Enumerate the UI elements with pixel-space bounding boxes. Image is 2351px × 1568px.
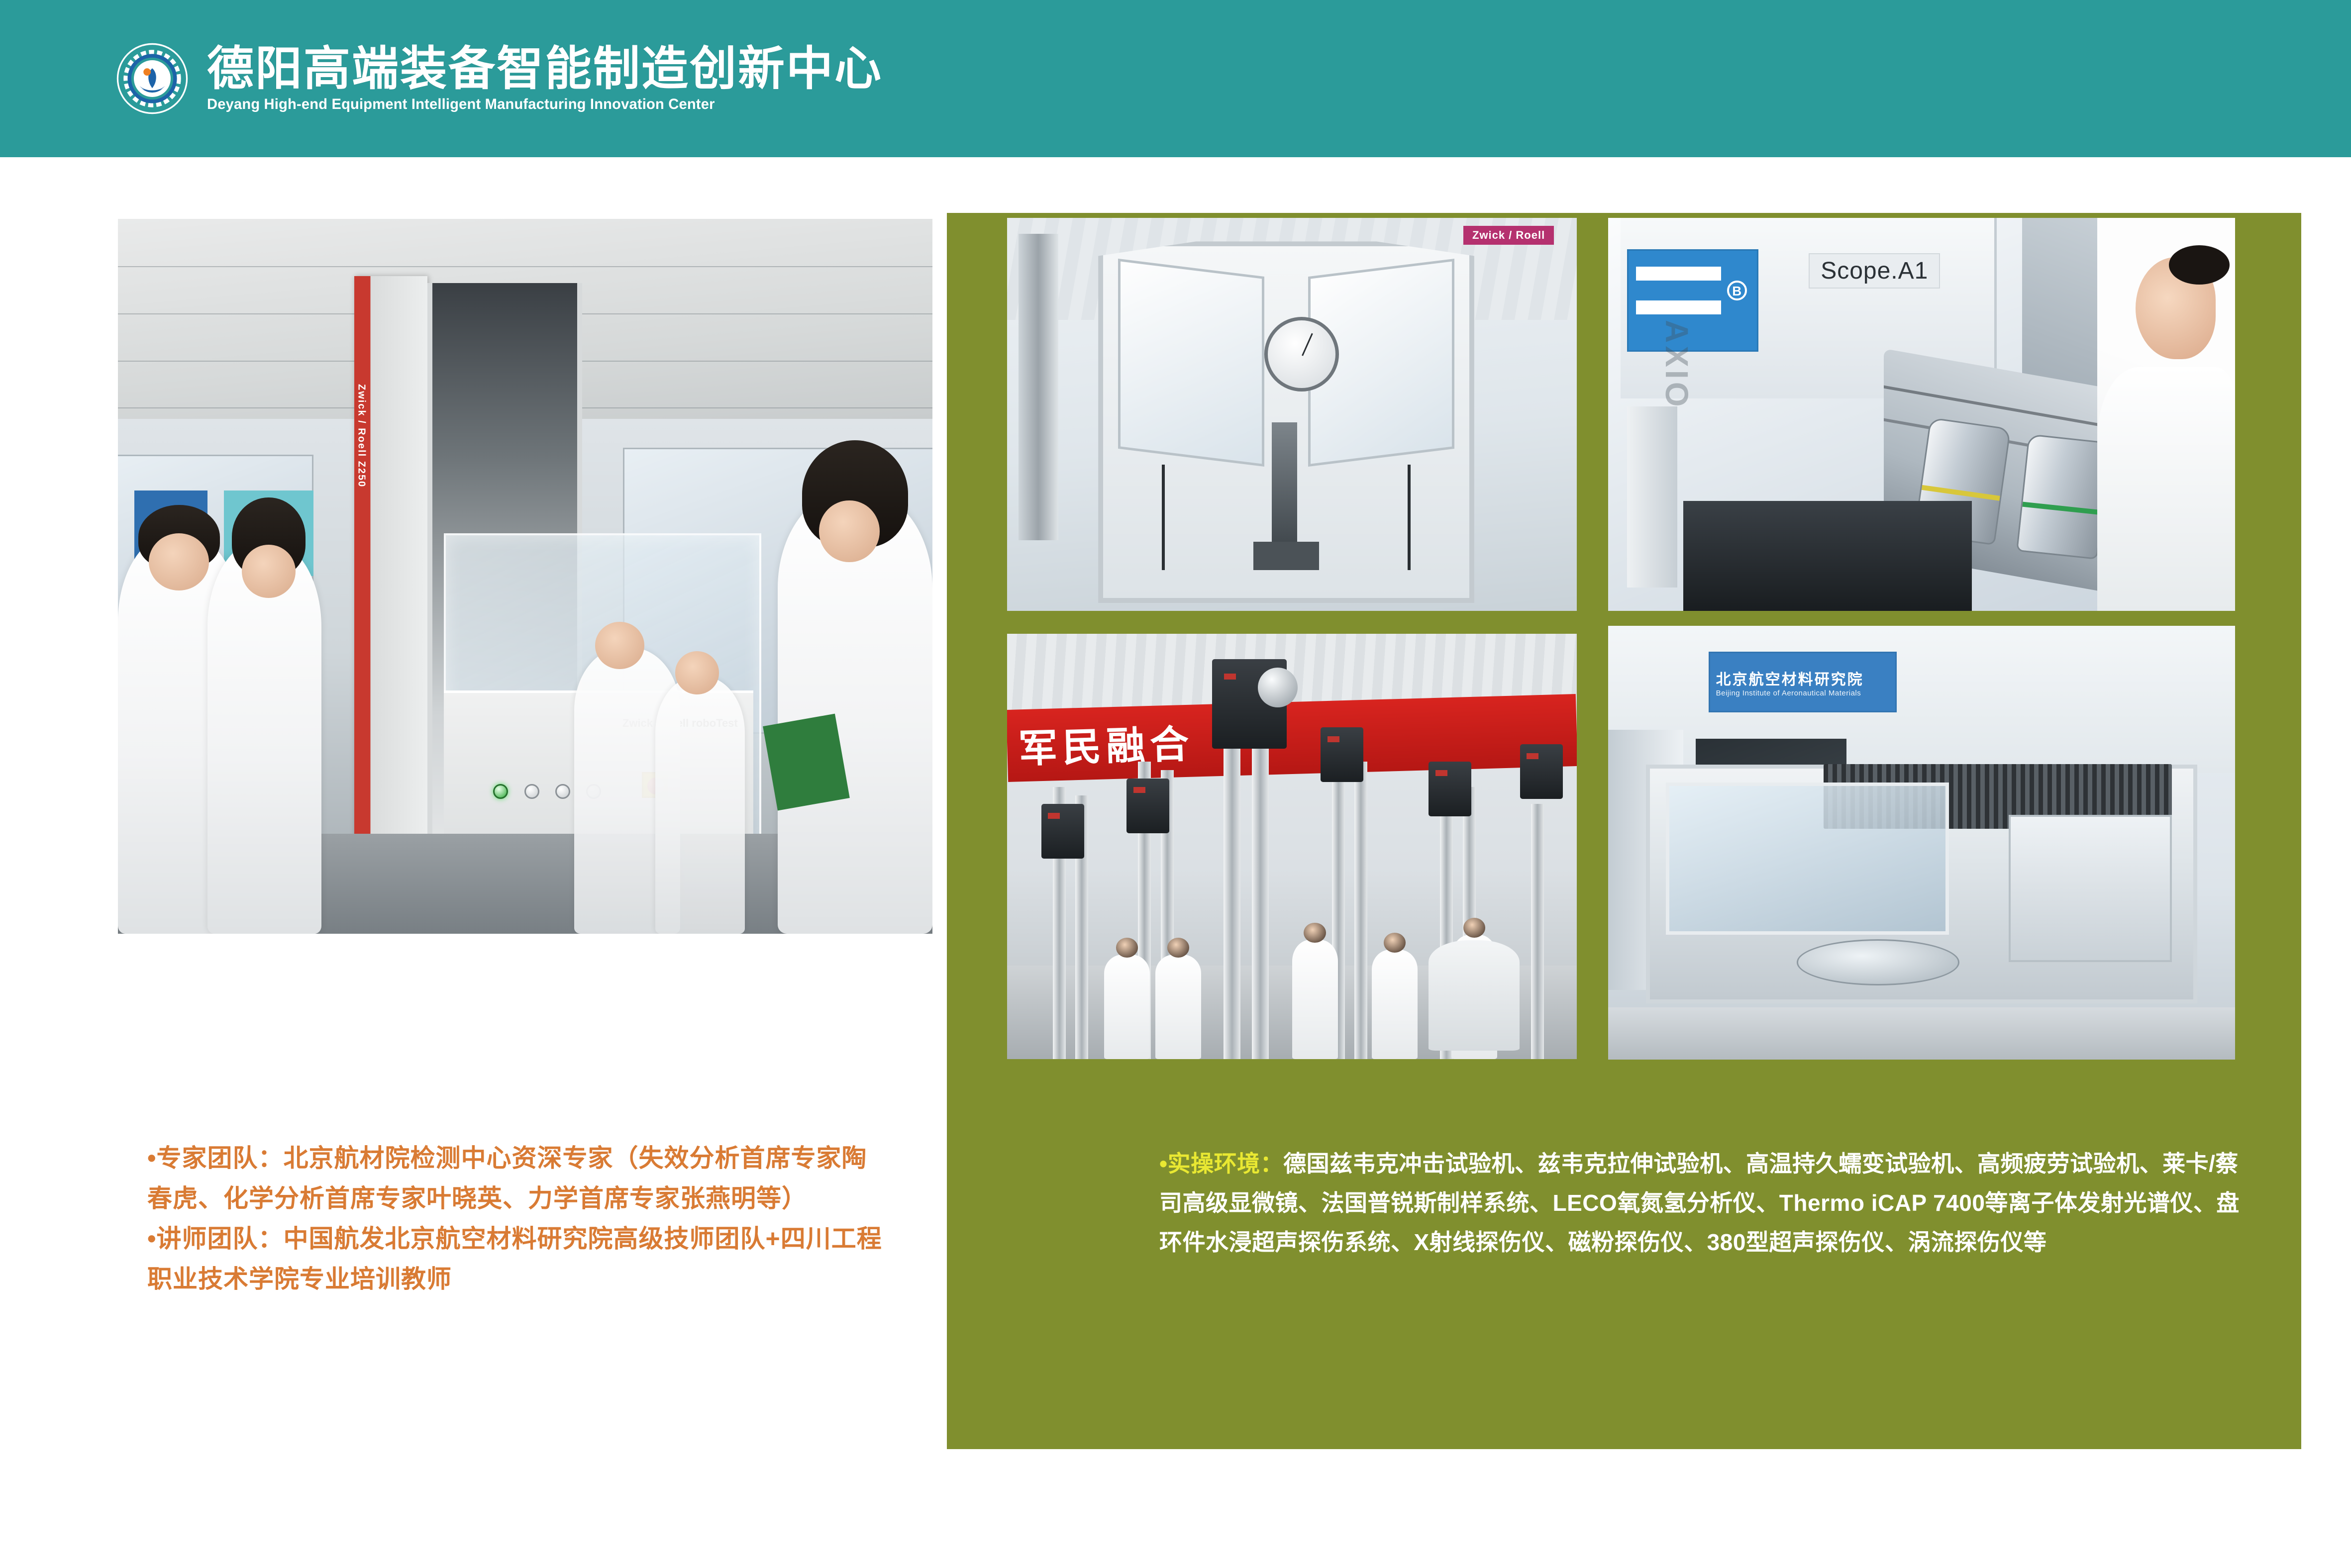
institute-sign-en: Beijing Institute of Aeronautical Materi… [1716,689,1895,697]
test-unit-head-3 [1321,727,1363,782]
institute-sign: 北京航空材料研究院 Beijing Institute of Aeronauti… [1709,652,1897,712]
seated-operator [1429,940,1520,1051]
axio-side-label: AXIO [1658,320,1695,409]
emblem-icon [115,42,189,115]
institute-sign-cn: 北京航空材料研究院 [1716,667,1895,689]
impact-pendulum-dial [1264,317,1339,392]
scope-nameplate: Scope.A1 [1809,253,1940,289]
header-title-block: 德阳高端装备智能制造创新中心 Deyang High-end Equipment… [207,45,883,113]
person-1-head [149,533,209,590]
facility-floor [1608,1007,2235,1060]
vertical-post-left [1019,234,1058,540]
test-unit-head-1 [1041,804,1084,859]
operator-lab-coat [2097,367,2235,611]
photo-impact-testing-machine: Zwick / Roell [1007,218,1577,611]
badge-letter-b: B [1727,281,1747,300]
photo-fatigue-testing-hall: 军民融合 [1007,634,1577,1059]
zwick-roell-brand-tag: Zwick / Roell [1463,226,1554,245]
microscope-stand [1627,406,1677,587]
objective-lens-2 [2016,434,2110,560]
microscope-stage [1683,501,1972,611]
left-text-line-2: 春虎、化学分析首席专家叶晓英、力学首席专家张燕明等） [147,1178,943,1219]
photo-water-immersion-ultrasonic: 北京航空材料研究院 Beijing Institute of Aeronauti… [1608,626,2235,1060]
operator-hair [2169,245,2230,285]
test-unit-sphere [1258,668,1298,707]
machine-button-2[interactable] [524,784,539,799]
person-student-2 [207,541,321,934]
green-clipboard [763,713,850,810]
person-5-head [819,500,879,562]
person-3-head [595,622,644,669]
test-unit-head-2 [1126,779,1169,833]
immersion-tank [1646,765,2198,1003]
page-header: 德阳高端装备智能制造创新中心 Deyang High-end Equipment… [0,0,2351,157]
tank-glass-panel [1666,783,1948,935]
door-hinge-left [1162,465,1165,570]
person-student-4 [655,677,745,934]
right-text-paragraph: •实操环境：德国兹韦克冲击试验机、兹韦克拉伸试验机、高温持久蠕变试验机、高频疲劳… [1159,1144,2244,1262]
header-title-en: Deyang High-end Equipment Intelligent Ma… [207,96,862,112]
impact-machine-enclosure [1098,241,1474,603]
right-text-label: •实操环境： [1159,1151,1283,1176]
testing-machine-column: Zwick / Roell Z250 [354,276,427,877]
machine-power-button[interactable] [493,784,508,799]
photo-zeiss-scope-a1: B Scope.A1 AXIO [1608,218,2235,611]
left-text-block: •专家团队：北京航材院检测中心资深专家（失效分析首席专家陶 春虎、化学分析首席专… [147,1138,943,1299]
person-4-head [675,651,719,694]
test-unit-head-4 [1429,762,1471,816]
right-text-block: •实操环境：德国兹韦克冲击试验机、兹韦克拉伸试验机、高温持久蠕变试验机、高频疲劳… [1159,1144,2244,1262]
left-text-line-1: •专家团队：北京航材院检测中心资深专家（失效分析首席专家陶 [147,1138,943,1178]
test-unit-head-5 [1520,744,1563,799]
anvil-base [1253,542,1319,570]
turntable-disc [1797,939,1960,985]
person-2-head [242,545,296,597]
center-logo [115,42,189,115]
tank-side-panel [2009,815,2172,963]
right-text-body: 德国兹韦克冲击试验机、兹韦克拉伸试验机、高温持久蠕变试验机、高频疲劳试验机、莱卡… [1159,1151,2240,1255]
header-inner: 德阳高端装备智能制造创新中心 Deyang High-end Equipment… [115,42,883,115]
poster-page: 德阳高端装备智能制造创新中心 Deyang High-end Equipment… [0,0,2351,1568]
left-text-line-4: 职业技术学院专业培训教师 [147,1259,943,1299]
operator-person [2097,218,2235,611]
left-text-line-3: •讲师团队：中国航发北京航空材料研究院高级技师团队+四川工程 [147,1219,943,1259]
photo-zwick-roell-tensile-lab: Zwick / Roell Z250 Zwick / Roell roboTes… [118,219,932,934]
pendulum-arm [1272,422,1297,556]
enclosure-panel-left [1118,259,1264,467]
header-title-cn: 德阳高端装备智能制造创新中心 [207,45,883,93]
machine-brand-label: Zwick / Roell Z250 [356,384,367,488]
door-hinge-right [1408,465,1411,570]
machine-button-3[interactable] [555,784,570,799]
